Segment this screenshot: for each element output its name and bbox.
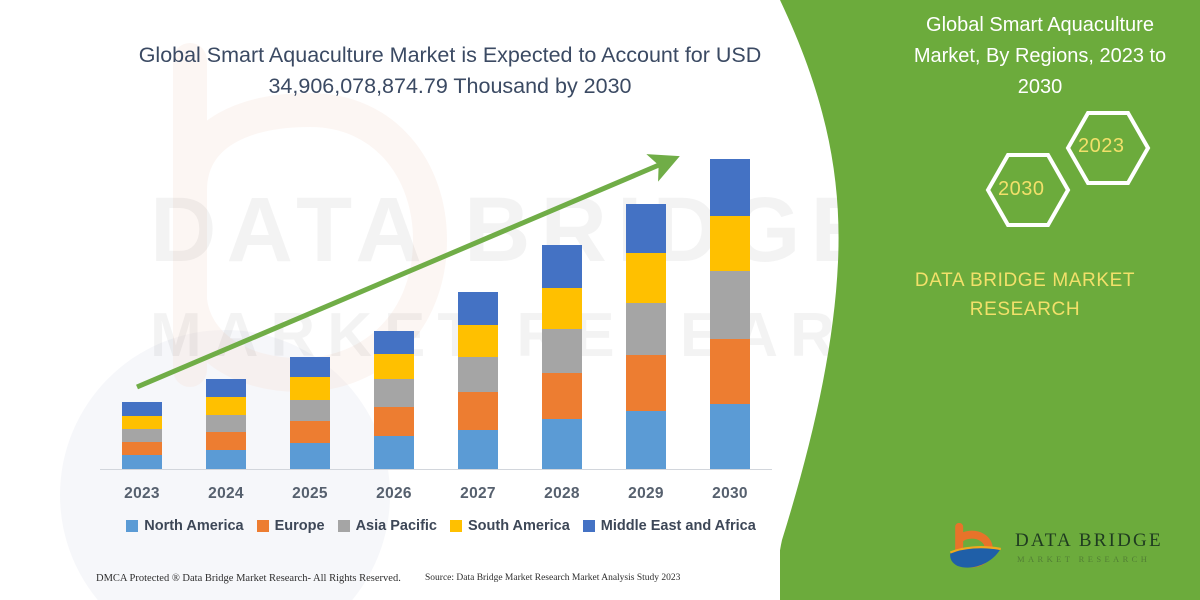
bar-segment xyxy=(458,392,498,430)
x-axis-labels: 20232024202520262027202820292030 xyxy=(100,485,772,503)
dbmr-logo-mark-icon xyxy=(945,523,1007,575)
brand-line-1: DATA BRIDGE MARKET xyxy=(915,270,1135,291)
bar-segment xyxy=(458,292,498,325)
bar-2028[interactable] xyxy=(542,245,582,469)
bar-segment xyxy=(290,377,330,400)
bar-segment xyxy=(626,204,666,253)
bar-segment xyxy=(374,407,414,436)
legend-label: North America xyxy=(144,518,243,534)
bar-segment xyxy=(710,159,750,216)
bar-segment xyxy=(458,357,498,392)
x-axis-label-2026: 2026 xyxy=(374,485,414,503)
x-axis-label-2024: 2024 xyxy=(206,485,246,503)
x-axis-label-2025: 2025 xyxy=(290,485,330,503)
x-axis-label-2027: 2027 xyxy=(458,485,498,503)
bar-segment xyxy=(542,373,582,419)
legend-label: Asia Pacific xyxy=(356,518,437,534)
bar-segment xyxy=(122,416,162,429)
bar-segment xyxy=(206,415,246,432)
bar-segment xyxy=(374,331,414,354)
headline-line-2: 34,906,078,874.79 Thousand by 2030 xyxy=(268,74,631,98)
bar-2029[interactable] xyxy=(626,204,666,469)
legend-swatch-icon xyxy=(450,520,462,532)
legend-swatch-icon xyxy=(126,520,138,532)
x-axis-label-2029: 2029 xyxy=(626,485,666,503)
stacked-bar-chart: 20232024202520262027202820292030 xyxy=(100,140,780,470)
bar-segment xyxy=(542,245,582,288)
bar-segment xyxy=(542,329,582,373)
bar-segment xyxy=(374,436,414,469)
headline-line-1: Global Smart Aquaculture Market is Expec… xyxy=(139,43,762,67)
bar-2030[interactable] xyxy=(710,159,750,469)
bar-segment xyxy=(458,430,498,469)
panel-title-line-2: Regions, 2023 to 2030 xyxy=(1015,45,1166,98)
bar-segment xyxy=(710,271,750,339)
hexagon-label-2023: 2023 xyxy=(1078,135,1125,158)
hexagon-label-2030: 2030 xyxy=(998,178,1045,201)
chart-legend: North AmericaEuropeAsia PacificSouth Ame… xyxy=(105,518,777,534)
legend-label: Europe xyxy=(275,518,325,534)
green-panel-content: Global Smart Aquaculture Market, By Regi… xyxy=(780,0,1200,600)
logo-title: DATA BRIDGE xyxy=(1015,530,1163,552)
dbmr-logo: DATA BRIDGE MARKET RESEARCH xyxy=(945,523,1185,583)
logo-subtitle: MARKET RESEARCH xyxy=(1017,554,1150,564)
bar-segment xyxy=(206,397,246,415)
x-axis-label-2030: 2030 xyxy=(710,485,750,503)
legend-item-asia-pacific[interactable]: Asia Pacific xyxy=(338,518,437,534)
bar-segment xyxy=(206,450,246,469)
legend-swatch-icon xyxy=(338,520,350,532)
hexagon-badges: 2023 2030 xyxy=(880,105,1170,245)
legend-item-south-america[interactable]: South America xyxy=(450,518,570,534)
bar-segment xyxy=(626,411,666,469)
bar-segment xyxy=(626,355,666,411)
x-axis-label-2028: 2028 xyxy=(542,485,582,503)
bar-segment xyxy=(626,253,666,303)
bar-segment xyxy=(290,421,330,443)
bar-segment xyxy=(374,354,414,379)
bar-segment xyxy=(542,419,582,469)
bar-segment xyxy=(290,400,330,421)
bar-segment xyxy=(206,432,246,450)
bar-segment xyxy=(458,325,498,357)
infographic-canvas: DATA BRIDGE MARKET RESEARCH Global Smart… xyxy=(0,0,1200,600)
legend-item-europe[interactable]: Europe xyxy=(257,518,325,534)
panel-title: Global Smart Aquaculture Market, By Regi… xyxy=(890,10,1190,103)
legend-item-north-america[interactable]: North America xyxy=(126,518,243,534)
bar-segment xyxy=(374,379,414,407)
bar-segment xyxy=(122,455,162,469)
x-axis-label-2023: 2023 xyxy=(122,485,162,503)
bar-segment xyxy=(542,288,582,329)
bar-2024[interactable] xyxy=(206,379,246,469)
bar-segment xyxy=(122,442,162,455)
brand-name: DATA BRIDGE MARKET RESEARCH xyxy=(875,266,1175,324)
hexagon-outline-icons xyxy=(880,105,1170,245)
legend-item-middle-east-and-africa[interactable]: Middle East and Africa xyxy=(583,518,756,534)
bar-segment xyxy=(290,357,330,377)
bar-segment xyxy=(710,216,750,271)
legend-swatch-icon xyxy=(257,520,269,532)
x-axis-line xyxy=(100,469,772,470)
bar-segment xyxy=(122,402,162,416)
bar-segment xyxy=(626,303,666,355)
footer-source: Source: Data Bridge Market Research Mark… xyxy=(425,573,680,583)
legend-label: South America xyxy=(468,518,570,534)
bar-segment xyxy=(290,443,330,469)
footer-copyright: DMCA Protected ® Data Bridge Market Rese… xyxy=(96,573,401,584)
footer-bar: DMCA Protected ® Data Bridge Market Rese… xyxy=(0,566,800,590)
bar-2027[interactable] xyxy=(458,292,498,469)
page-title: Global Smart Aquaculture Market is Expec… xyxy=(120,40,780,102)
brand-line-2: RESEARCH xyxy=(970,299,1080,320)
legend-swatch-icon xyxy=(583,520,595,532)
bar-2025[interactable] xyxy=(290,357,330,469)
bar-2026[interactable] xyxy=(374,331,414,469)
legend-label: Middle East and Africa xyxy=(601,518,756,534)
bar-group xyxy=(100,144,772,469)
bar-2023[interactable] xyxy=(122,402,162,469)
bar-segment xyxy=(122,429,162,442)
bar-segment xyxy=(710,339,750,404)
bar-segment xyxy=(206,379,246,397)
bar-segment xyxy=(710,404,750,469)
